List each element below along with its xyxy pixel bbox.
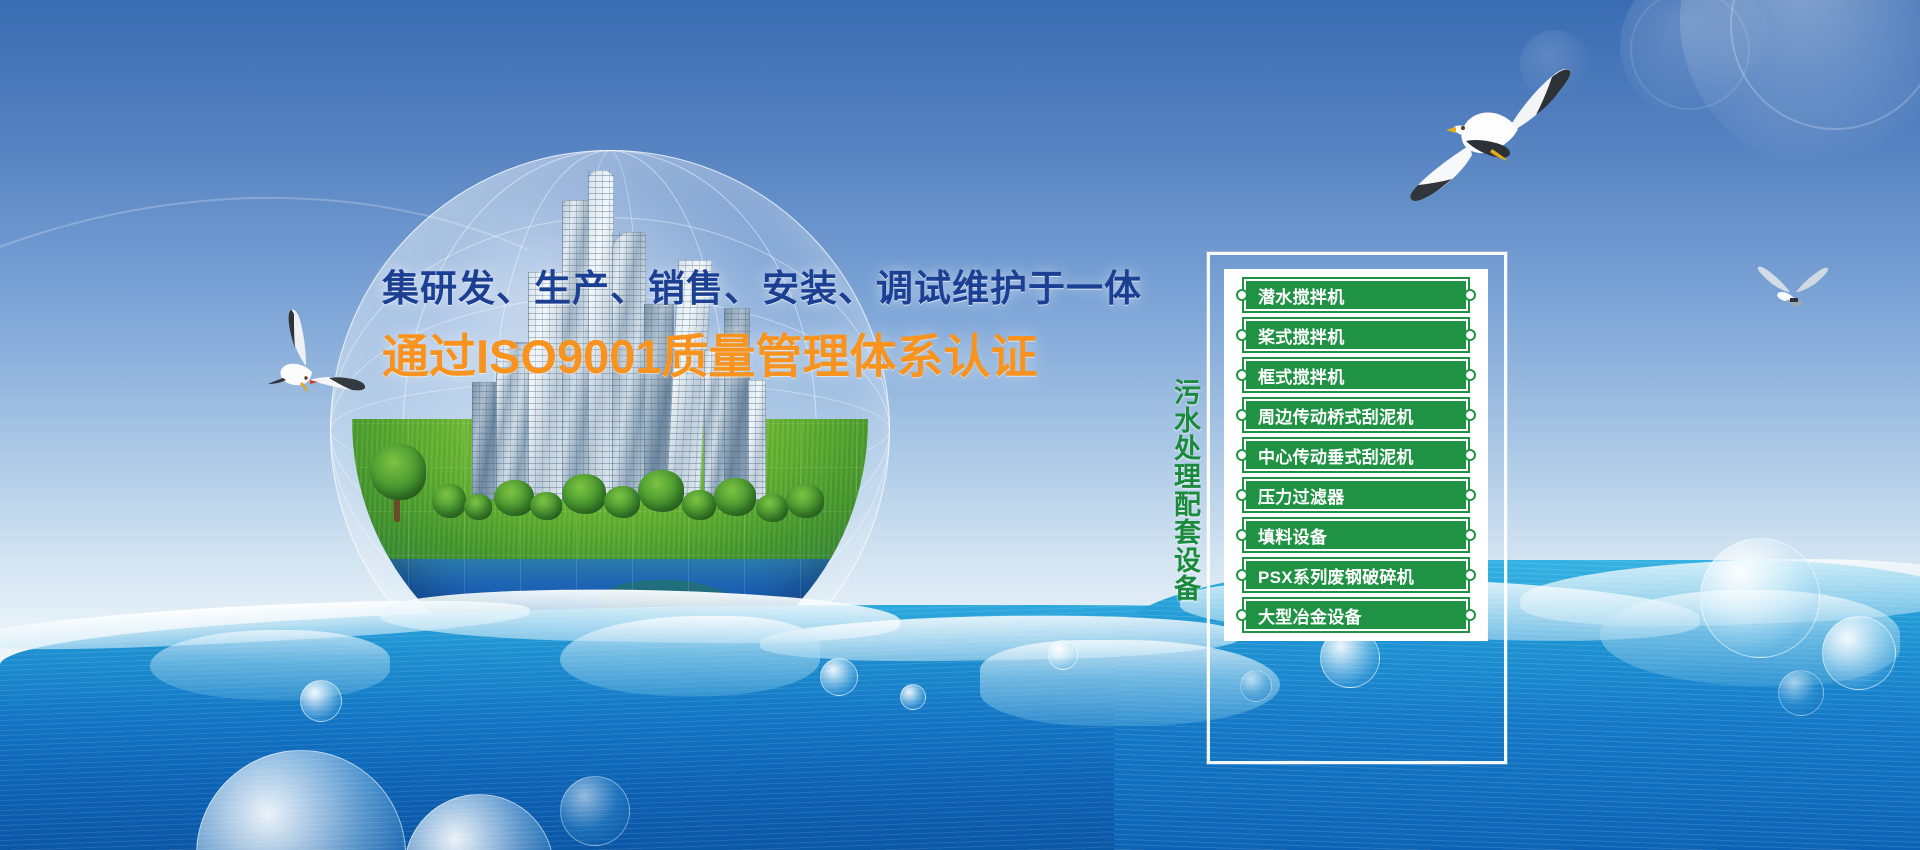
product-plaque[interactable]: 潜水搅拌机 [1244,279,1468,311]
list-item[interactable]: 压力过滤器 [1234,479,1478,511]
seagull-icon [250,300,380,405]
list-item[interactable]: 潜水搅拌机 [1234,279,1478,311]
tree-icon [432,484,466,518]
list-item[interactable]: PSX系列废钢破碎机 [1234,559,1478,591]
bubble [1048,640,1078,670]
plaque-notch-right-icon [1464,369,1476,381]
plaque-notch-right-icon [1464,529,1476,541]
product-plaque[interactable]: 中心传动垂式刮泥机 [1244,439,1468,471]
product-plaque[interactable]: 大型冶金设备 [1244,599,1468,631]
plaque-notch-right-icon [1464,329,1476,341]
tree-icon [714,478,756,516]
globe-graphic [330,150,890,710]
tree-icon [604,486,640,518]
bubble [1700,538,1820,658]
bubble [1822,616,1896,690]
product-label: 潜水搅拌机 [1246,283,1345,308]
plaque-notch-right-icon [1464,489,1476,501]
list-item[interactable]: 框式搅拌机 [1234,359,1478,391]
product-plaque[interactable]: 填料设备 [1244,519,1468,551]
plaque-notch-right-icon [1464,569,1476,581]
tree-group [368,432,848,522]
bubble [560,776,630,846]
plaque-notch-left-icon [1236,369,1248,381]
lens-flare-icon [1680,0,1920,170]
plaque-notch-left-icon [1236,409,1248,421]
list-item[interactable]: 周边传动桥式刮泥机 [1234,399,1478,431]
tree-icon [530,492,562,520]
seagull-icon [1400,55,1590,215]
product-label: 框式搅拌机 [1246,363,1345,388]
headline-line-1: 集研发、生产、销售、安装、调试维护于一体 [382,258,1172,312]
plaque-notch-left-icon [1236,489,1248,501]
banner-scene: 集研发、生产、销售、安装、调试维护于一体 通过ISO9001质量管理体系认证 污… [0,0,1920,850]
panel-vertical-label: 污水处理配套设备 [1164,378,1198,602]
plaque-notch-right-icon [1464,449,1476,461]
tree-icon [562,474,606,514]
list-item[interactable]: 填料设备 [1234,519,1478,551]
list-item[interactable]: 大型冶金设备 [1234,599,1478,631]
list-item[interactable]: 桨式搅拌机 [1234,319,1478,351]
plaque-notch-right-icon [1464,409,1476,421]
plaque-notch-left-icon [1236,529,1248,541]
tree-icon [464,494,492,520]
headline-block: 集研发、生产、销售、安装、调试维护于一体 通过ISO9001质量管理体系认证 [382,258,1172,387]
tree-icon [756,494,788,522]
tree-icon [682,490,716,520]
tree-icon [370,444,426,500]
product-label: PSX系列废钢破碎机 [1246,563,1414,588]
plaque-notch-left-icon [1236,329,1248,341]
plaque-notch-left-icon [1236,569,1248,581]
product-panel: 潜水搅拌机 桨式搅拌机 框式搅拌机 [1207,252,1507,764]
product-label: 填料设备 [1246,523,1327,548]
product-plaque[interactable]: 框式搅拌机 [1244,359,1468,391]
water-graphic [0,520,1920,850]
wave-curl [1600,590,1900,686]
plaque-notch-left-icon [1236,289,1248,301]
product-label: 周边传动桥式刮泥机 [1246,403,1414,428]
product-plaque[interactable]: PSX系列废钢破碎机 [1244,559,1468,591]
bubble [404,794,554,850]
product-label: 中心传动垂式刮泥机 [1246,443,1414,468]
plaque-notch-left-icon [1236,609,1248,621]
product-label: 大型冶金设备 [1246,603,1362,628]
bubble [196,750,406,850]
bubble [1778,670,1824,716]
lens-flare-ring-icon [1730,0,1920,130]
product-label: 压力过滤器 [1246,483,1345,508]
tree-icon [494,480,534,516]
water-surface-left [0,605,1920,850]
headline-line-2: 通过ISO9001质量管理体系认证 [382,318,1172,387]
product-plaque[interactable]: 桨式搅拌机 [1244,319,1468,351]
product-plaque[interactable]: 压力过滤器 [1244,479,1468,511]
tree-icon [786,484,824,518]
lens-flare-icon [1620,0,1770,120]
plaque-notch-left-icon [1236,449,1248,461]
lens-flare-ring-icon [1630,0,1750,110]
bubble [900,684,926,710]
list-item[interactable]: 中心传动垂式刮泥机 [1234,439,1478,471]
product-list: 潜水搅拌机 桨式搅拌机 框式搅拌机 [1224,269,1488,641]
product-label: 桨式搅拌机 [1246,323,1345,348]
tree-icon [638,470,684,512]
wave-crest [1519,552,1920,632]
plaque-notch-right-icon [1464,609,1476,621]
seagull-icon [1742,258,1847,318]
product-plaque[interactable]: 周边传动桥式刮泥机 [1244,399,1468,431]
plaque-notch-right-icon [1464,289,1476,301]
